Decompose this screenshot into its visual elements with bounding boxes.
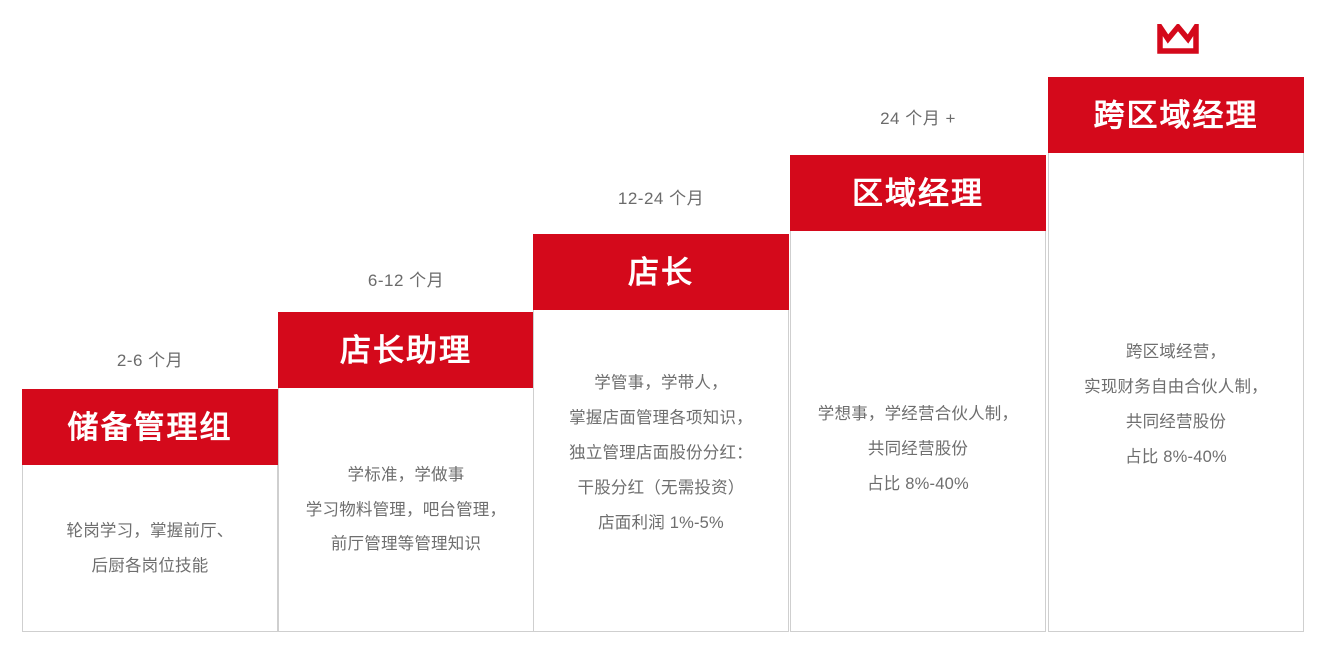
step-duration-label: 6-12 个月 bbox=[278, 272, 534, 289]
step-description-line: 后厨各岗位技能 bbox=[92, 549, 209, 584]
step-description-line: 掌握店面管理各项知识， bbox=[569, 401, 753, 436]
step-description-line: 独立管理店面股份分红： bbox=[569, 436, 753, 471]
step-card: 店长助理 学标准，学做事 学习物料管理，吧台管理， 前厅管理等管理知识 bbox=[278, 312, 534, 632]
step-card: 储备管理组 轮岗学习，掌握前厅、 后厨各岗位技能 bbox=[22, 389, 278, 632]
step-title: 储备管理组 bbox=[22, 389, 278, 465]
step-description-line: 学想事，学经营合伙人制， bbox=[818, 397, 1018, 432]
step-card: 店长 学管事，学带人， 掌握店面管理各项知识， 独立管理店面股份分红： 干股分红… bbox=[533, 234, 789, 632]
crown-icon bbox=[1157, 24, 1199, 54]
step-description-line: 实现财务自由合伙人制， bbox=[1084, 370, 1268, 405]
step-card: 区域经理 学想事，学经营合伙人制， 共同经营股份 占比 8%-40% bbox=[790, 155, 1046, 632]
step-description-line: 占比 8%-40% bbox=[867, 467, 969, 502]
step-description-line: 干股分红（无需投资） bbox=[578, 471, 745, 506]
step-description: 学标准，学做事 学习物料管理，吧台管理， 前厅管理等管理知识 bbox=[279, 388, 533, 632]
step-description-line: 跨区域经营， bbox=[1126, 335, 1226, 370]
step-card: 跨区域经理 跨区域经营， 实现财务自由合伙人制， 共同经营股份 占比 8%-40… bbox=[1048, 77, 1304, 632]
ladder-step-3[interactable]: 12-24 个月 店长 学管事，学带人， 掌握店面管理各项知识， 独立管理店面股… bbox=[533, 190, 789, 632]
step-description: 学管事，学带人， 掌握店面管理各项知识， 独立管理店面股份分红： 干股分红（无需… bbox=[534, 310, 788, 632]
step-title: 店长 bbox=[533, 234, 789, 310]
step-description: 轮岗学习，掌握前厅、 后厨各岗位技能 bbox=[23, 465, 277, 632]
step-description: 跨区域经营， 实现财务自由合伙人制， 共同经营股份 占比 8%-40% bbox=[1049, 153, 1303, 632]
step-duration-label: 24 个月 + bbox=[790, 110, 1046, 127]
step-title: 店长助理 bbox=[278, 312, 534, 388]
ladder-step-5[interactable]: 跨区域经理 跨区域经营， 实现财务自由合伙人制， 共同经营股份 占比 8%-40… bbox=[1048, 77, 1304, 632]
step-description-line: 学习物料管理，吧台管理， bbox=[306, 493, 506, 528]
step-description: 学想事，学经营合伙人制， 共同经营股份 占比 8%-40% bbox=[791, 231, 1045, 632]
career-ladder-diagram: 2-6 个月 储备管理组 轮岗学习，掌握前厅、 后厨各岗位技能 6-12 个月 … bbox=[0, 0, 1325, 651]
step-description-line: 共同经营股份 bbox=[868, 432, 968, 467]
ladder-step-2[interactable]: 6-12 个月 店长助理 学标准，学做事 学习物料管理，吧台管理， 前厅管理等管… bbox=[278, 272, 534, 632]
step-description-line: 学管事，学带人， bbox=[594, 366, 728, 401]
ladder-step-4[interactable]: 24 个月 + 区域经理 学想事，学经营合伙人制， 共同经营股份 占比 8%-4… bbox=[790, 110, 1046, 632]
step-description-line: 共同经营股份 bbox=[1126, 405, 1226, 440]
step-description-line: 学标准，学做事 bbox=[348, 458, 465, 493]
step-duration-label: 2-6 个月 bbox=[22, 352, 278, 369]
step-description-line: 轮岗学习，掌握前厅、 bbox=[67, 514, 234, 549]
step-title: 跨区域经理 bbox=[1048, 77, 1304, 153]
step-duration-label: 12-24 个月 bbox=[533, 190, 789, 207]
ladder-step-1[interactable]: 2-6 个月 储备管理组 轮岗学习，掌握前厅、 后厨各岗位技能 bbox=[22, 352, 278, 632]
step-description-line: 店面利润 1%-5% bbox=[598, 506, 724, 541]
step-description-line: 前厅管理等管理知识 bbox=[331, 527, 481, 562]
step-description-line: 占比 8%-40% bbox=[1125, 440, 1227, 475]
step-title: 区域经理 bbox=[790, 155, 1046, 231]
